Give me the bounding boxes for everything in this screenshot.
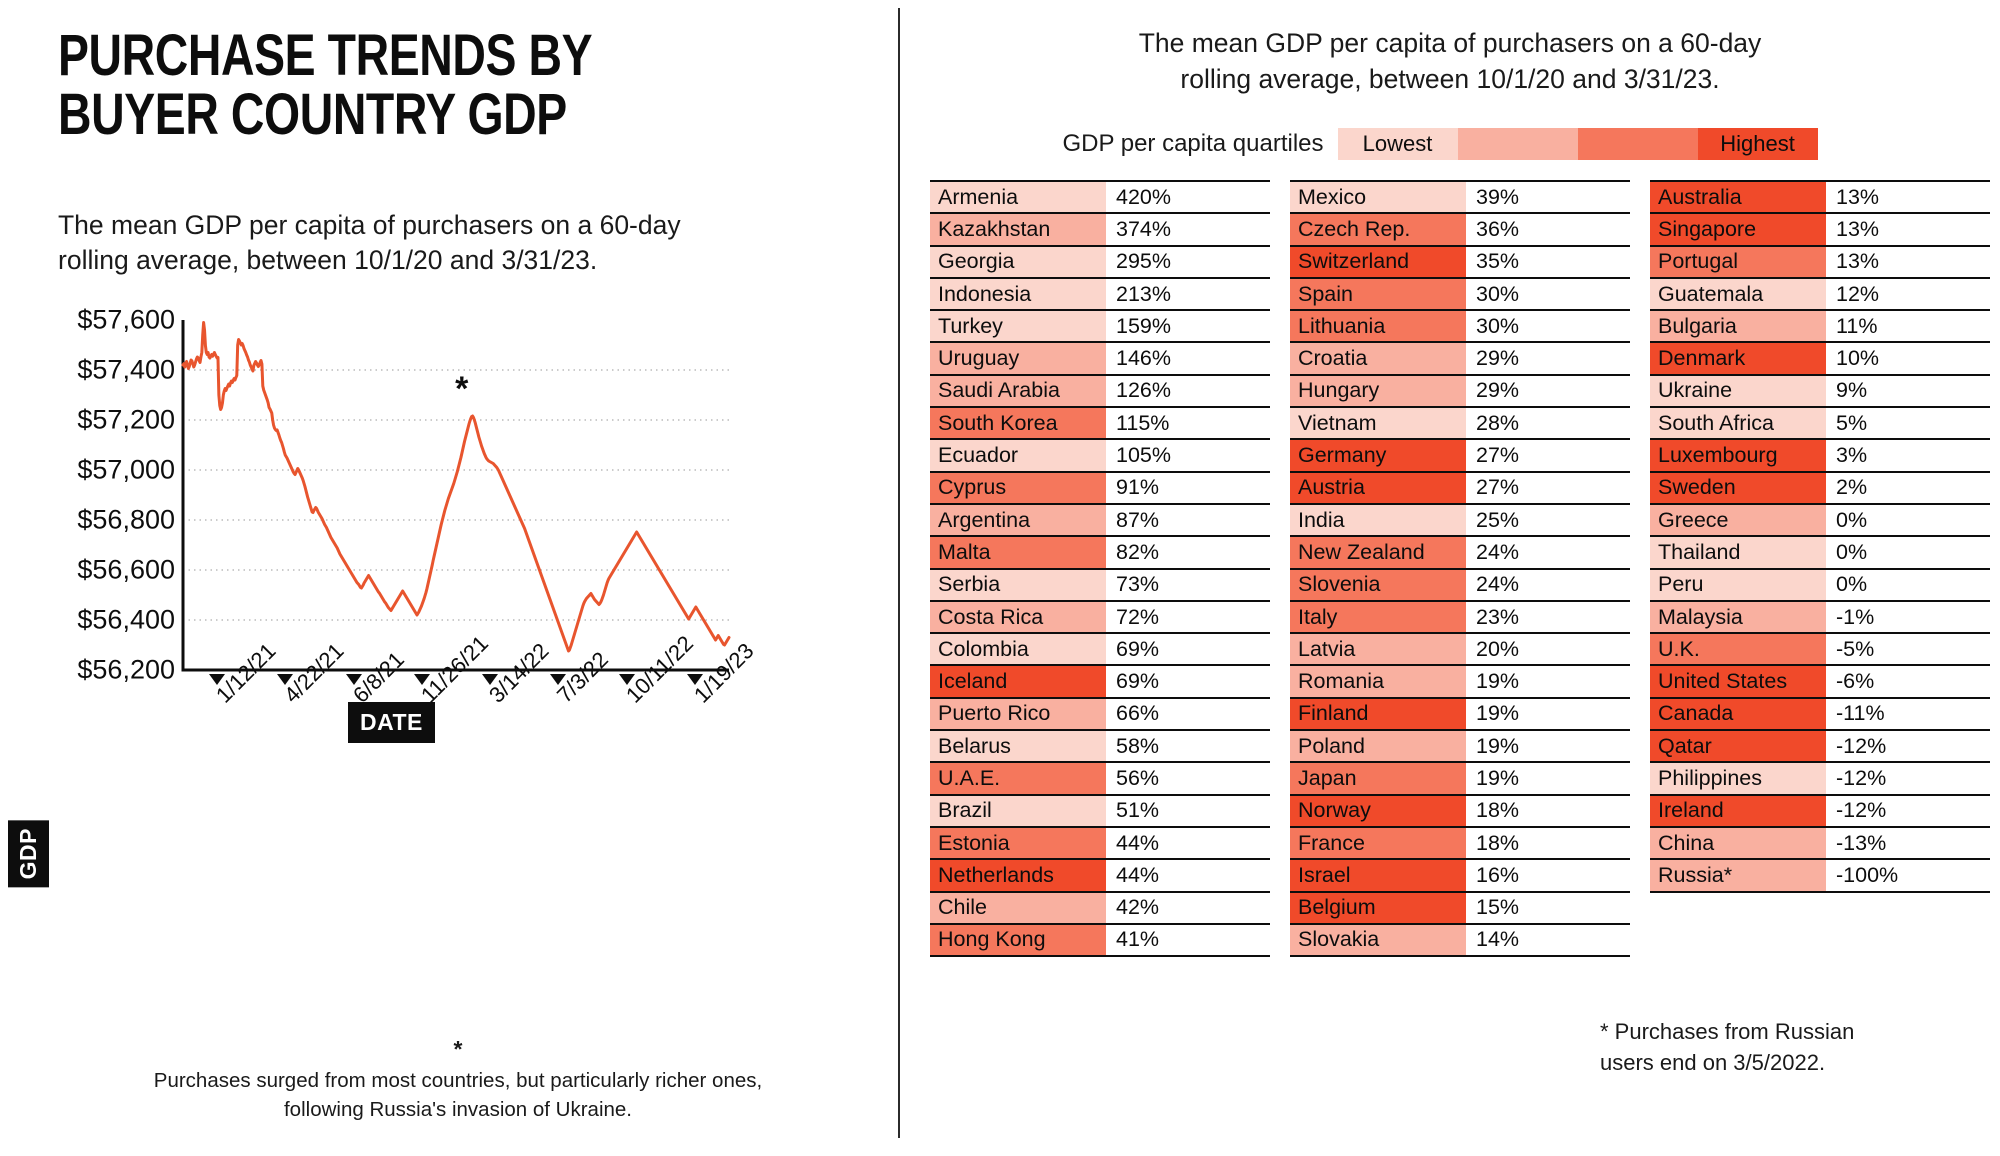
country-name-cell: Russia* <box>1650 860 1826 890</box>
country-value-cell: 24% <box>1466 570 1630 600</box>
table-row[interactable]: U.A.E.56% <box>930 761 1270 793</box>
country-name-cell: Colombia <box>930 634 1106 664</box>
country-value-cell: 16% <box>1466 860 1630 890</box>
country-value-cell: 105% <box>1106 440 1270 470</box>
country-name-cell: Singapore <box>1650 214 1826 244</box>
country-value-cell: 19% <box>1466 763 1630 793</box>
y-tick-label: $57,600 <box>0 305 175 336</box>
country-name-cell: Mexico <box>1290 182 1466 212</box>
country-value-cell: 42% <box>1106 893 1270 923</box>
country-value-cell: 29% <box>1466 343 1630 373</box>
country-value-cell: 28% <box>1466 408 1630 438</box>
table-row[interactable]: Peru0% <box>1650 568 1990 600</box>
page-title: PURCHASE TRENDS BY BUYER COUNTRY GDP <box>58 26 714 144</box>
country-value-cell: 30% <box>1466 311 1630 341</box>
table-row[interactable]: Malaysia-1% <box>1650 600 1990 632</box>
country-name-cell: Argentina <box>930 505 1106 535</box>
country-name-cell: Georgia <box>930 247 1106 277</box>
table-row[interactable]: Slovenia24% <box>1290 568 1630 600</box>
table-row[interactable]: Saudi Arabia126% <box>930 374 1270 406</box>
table-row[interactable]: France18% <box>1290 826 1630 858</box>
y-tick-label: $57,400 <box>0 355 175 386</box>
country-name-cell: Thailand <box>1650 537 1826 567</box>
table-row[interactable]: Canada-11% <box>1650 697 1990 729</box>
country-value-cell: 10% <box>1826 343 1990 373</box>
country-value-cell: 35% <box>1466 247 1630 277</box>
gdp-line-chart: GDP $57,600$57,400$57,200$57,000$56,800$… <box>0 320 896 820</box>
country-name-cell: Norway <box>1290 796 1466 826</box>
country-value-cell: 19% <box>1466 666 1630 696</box>
country-name-cell: Belarus <box>930 731 1106 761</box>
country-value-cell: 420% <box>1106 182 1270 212</box>
chart-plot-area: * <box>183 320 729 670</box>
country-value-cell: 0% <box>1826 537 1990 567</box>
chart-annotation-asterisk: * <box>455 372 468 406</box>
table-row[interactable]: Lithuania30% <box>1290 309 1630 341</box>
country-name-cell: Lithuania <box>1290 311 1466 341</box>
table-row[interactable]: Belarus58% <box>930 729 1270 761</box>
table-row[interactable]: Japan19% <box>1290 761 1630 793</box>
country-value-cell: -11% <box>1826 699 1990 729</box>
table-row[interactable]: India25% <box>1290 503 1630 535</box>
country-value-cell: 44% <box>1106 828 1270 858</box>
country-value-cell: 66% <box>1106 699 1270 729</box>
country-name-cell: Philippines <box>1650 763 1826 793</box>
table-row[interactable]: Israel16% <box>1290 858 1630 890</box>
legend-swatch-lowest: Lowest <box>1338 128 1458 160</box>
table-row[interactable]: Armenia420% <box>930 180 1270 212</box>
table-row[interactable]: Ecuador105% <box>930 438 1270 470</box>
country-name-cell: Guatemala <box>1650 279 1826 309</box>
table-row[interactable]: Austria27% <box>1290 471 1630 503</box>
table-row[interactable]: Australia13% <box>1650 180 1990 212</box>
table-row[interactable]: Vietnam28% <box>1290 406 1630 438</box>
country-name-cell: Canada <box>1650 699 1826 729</box>
country-name-cell: Qatar <box>1650 731 1826 761</box>
table-row[interactable]: Switzerland35% <box>1290 245 1630 277</box>
country-value-cell: 19% <box>1466 731 1630 761</box>
table-row[interactable]: Singapore13% <box>1650 212 1990 244</box>
table-row[interactable]: Bulgaria11% <box>1650 309 1990 341</box>
country-name-cell: Slovakia <box>1290 925 1466 955</box>
table-row[interactable]: Greece0% <box>1650 503 1990 535</box>
table-row[interactable]: Argentina87% <box>930 503 1270 535</box>
y-axis-label: GDP <box>8 820 49 887</box>
y-tick-label: $56,400 <box>0 605 175 636</box>
country-value-cell: 115% <box>1106 408 1270 438</box>
table-row[interactable]: Slovakia14% <box>1290 923 1630 957</box>
country-name-cell: Switzerland <box>1290 247 1466 277</box>
country-value-cell: 13% <box>1826 182 1990 212</box>
table-row[interactable]: Estonia44% <box>930 826 1270 858</box>
country-name-cell: U.A.E. <box>930 763 1106 793</box>
country-value-cell: 213% <box>1106 279 1270 309</box>
country-name-cell: Saudi Arabia <box>930 376 1106 406</box>
y-axis-ticks: $57,600$57,400$57,200$57,000$56,800$56,6… <box>0 320 175 670</box>
table-row[interactable]: Indonesia213% <box>930 277 1270 309</box>
table-row[interactable]: Ukraine9% <box>1650 374 1990 406</box>
legend-swatch-third <box>1578 128 1698 160</box>
country-value-cell: -12% <box>1826 731 1990 761</box>
country-value-cell: 51% <box>1106 796 1270 826</box>
country-name-cell: Belgium <box>1290 893 1466 923</box>
table-row[interactable]: Cyprus91% <box>930 471 1270 503</box>
country-value-cell: 30% <box>1466 279 1630 309</box>
country-value-cell: 374% <box>1106 214 1270 244</box>
country-name-cell: Netherlands <box>930 860 1106 890</box>
legend-swatch-highest: Highest <box>1698 128 1818 160</box>
country-value-cell: 73% <box>1106 570 1270 600</box>
table-row[interactable]: Luxembourg3% <box>1650 438 1990 470</box>
country-value-cell: 18% <box>1466 828 1630 858</box>
table-row[interactable]: South Africa5% <box>1650 406 1990 438</box>
table-row[interactable]: Portugal13% <box>1650 245 1990 277</box>
infographic-page: PURCHASE TRENDS BY BUYER COUNTRY GDP The… <box>0 0 2000 1156</box>
country-name-cell: Ukraine <box>1650 376 1826 406</box>
country-name-cell: India <box>1290 505 1466 535</box>
table-row[interactable]: Belgium15% <box>1290 891 1630 923</box>
country-value-cell: 69% <box>1106 634 1270 664</box>
country-name-cell: Iceland <box>930 666 1106 696</box>
country-value-cell: 13% <box>1826 214 1990 244</box>
x-axis-label: DATE <box>348 702 435 743</box>
country-value-cell: -1% <box>1826 602 1990 632</box>
country-name-cell: Finland <box>1290 699 1466 729</box>
table-row[interactable]: Uruguay146% <box>930 341 1270 373</box>
country-name-cell: Japan <box>1290 763 1466 793</box>
country-name-cell: Indonesia <box>930 279 1106 309</box>
page-subtitle: The mean GDP per capita of purchasers on… <box>58 208 818 278</box>
country-name-cell: U.K. <box>1650 634 1826 664</box>
country-name-cell: Romania <box>1290 666 1466 696</box>
country-name-cell: Turkey <box>930 311 1106 341</box>
country-value-cell: 58% <box>1106 731 1270 761</box>
country-name-cell: Czech Rep. <box>1290 214 1466 244</box>
country-value-cell: -12% <box>1826 763 1990 793</box>
country-name-cell: Estonia <box>930 828 1106 858</box>
table-row[interactable]: Costa Rica72% <box>930 600 1270 632</box>
country-name-cell: Peru <box>1650 570 1826 600</box>
country-value-cell: 9% <box>1826 376 1990 406</box>
country-value-cell: 87% <box>1106 505 1270 535</box>
table-row[interactable]: Norway18% <box>1290 794 1630 826</box>
country-name-cell: Luxembourg <box>1650 440 1826 470</box>
country-value-cell: 69% <box>1106 666 1270 696</box>
country-name-cell: Hungary <box>1290 376 1466 406</box>
table-row[interactable]: Spain30% <box>1290 277 1630 309</box>
country-name-cell: South Africa <box>1650 408 1826 438</box>
table-column-3: Australia13%Singapore13%Portugal13%Guate… <box>1650 180 1990 957</box>
country-name-cell: Latvia <box>1290 634 1466 664</box>
table-column-2: Mexico39%Czech Rep.36%Switzerland35%Spai… <box>1290 180 1630 957</box>
table-row[interactable]: Iceland69% <box>930 664 1270 696</box>
table-row[interactable]: Romania19% <box>1290 664 1630 696</box>
country-name-cell: Bulgaria <box>1650 311 1826 341</box>
country-name-cell: Sweden <box>1650 473 1826 503</box>
table-row[interactable]: U.K.-5% <box>1650 632 1990 664</box>
country-name-cell: Australia <box>1650 182 1826 212</box>
country-value-cell: -5% <box>1826 634 1990 664</box>
country-value-cell: 20% <box>1466 634 1630 664</box>
country-name-cell: Ireland <box>1650 796 1826 826</box>
table-row[interactable]: Sweden2% <box>1650 471 1990 503</box>
country-value-cell: 44% <box>1106 860 1270 890</box>
country-name-cell: Spain <box>1290 279 1466 309</box>
country-name-cell: Puerto Rico <box>930 699 1106 729</box>
country-value-cell: -12% <box>1826 796 1990 826</box>
y-tick-label: $57,200 <box>0 405 175 436</box>
country-value-cell: 29% <box>1466 376 1630 406</box>
table-row[interactable]: Hungary29% <box>1290 374 1630 406</box>
table-row[interactable]: New Zealand24% <box>1290 535 1630 567</box>
country-name-cell: Chile <box>930 893 1106 923</box>
country-value-cell: 91% <box>1106 473 1270 503</box>
country-name-cell: Uruguay <box>930 343 1106 373</box>
legend-swatch-second <box>1458 128 1578 160</box>
y-tick-label: $56,200 <box>0 655 175 686</box>
country-value-cell: 23% <box>1466 602 1630 632</box>
country-value-cell: 15% <box>1466 893 1630 923</box>
country-name-cell: Italy <box>1290 602 1466 632</box>
country-value-cell: 41% <box>1106 925 1270 955</box>
table-row[interactable]: Latvia20% <box>1290 632 1630 664</box>
table-row[interactable]: Germany27% <box>1290 438 1630 470</box>
table-row[interactable]: United States-6% <box>1650 664 1990 696</box>
table-row[interactable]: Poland19% <box>1290 729 1630 761</box>
country-name-cell: Serbia <box>930 570 1106 600</box>
country-value-cell: 25% <box>1466 505 1630 535</box>
chart-footnote: * Purchases surged from most countries, … <box>58 1004 858 1124</box>
country-name-cell: Israel <box>1290 860 1466 890</box>
table-row[interactable]: Ireland-12% <box>1650 794 1990 826</box>
country-name-cell: Malaysia <box>1650 602 1826 632</box>
country-name-cell: Austria <box>1290 473 1466 503</box>
country-name-cell: China <box>1650 828 1826 858</box>
country-name-cell: Brazil <box>930 796 1106 826</box>
right-panel: The mean GDP per capita of purchasers on… <box>900 0 2000 1156</box>
table-row[interactable]: Serbia73% <box>930 568 1270 600</box>
country-value-cell: 39% <box>1466 182 1630 212</box>
country-name-cell: Ecuador <box>930 440 1106 470</box>
table-row[interactable]: Philippines-12% <box>1650 761 1990 793</box>
country-name-cell: Slovenia <box>1290 570 1466 600</box>
table-footnote: * Purchases from Russian users end on 3/… <box>1600 1016 1930 1078</box>
table-row[interactable]: Russia*-100% <box>1650 858 1990 892</box>
country-name-cell: United States <box>1650 666 1826 696</box>
country-value-cell: 5% <box>1826 408 1990 438</box>
table-row[interactable]: Kazakhstan374% <box>930 212 1270 244</box>
table-row[interactable]: Qatar-12% <box>1650 729 1990 761</box>
country-name-cell: Malta <box>930 537 1106 567</box>
table-row[interactable]: Czech Rep.36% <box>1290 212 1630 244</box>
country-value-cell: 27% <box>1466 440 1630 470</box>
country-value-cell: 82% <box>1106 537 1270 567</box>
table-row[interactable]: Hong Kong41% <box>930 923 1270 957</box>
country-value-cell: 295% <box>1106 247 1270 277</box>
country-value-cell: 56% <box>1106 763 1270 793</box>
table-row[interactable]: Denmark10% <box>1650 341 1990 373</box>
table-row[interactable]: Puerto Rico66% <box>930 697 1270 729</box>
table-row[interactable]: Mexico39% <box>1290 180 1630 212</box>
country-name-cell: New Zealand <box>1290 537 1466 567</box>
table-row[interactable]: South Korea115% <box>930 406 1270 438</box>
table-row[interactable]: Finland19% <box>1290 697 1630 729</box>
country-value-cell: 18% <box>1466 796 1630 826</box>
table-row[interactable]: Georgia295% <box>930 245 1270 277</box>
country-value-cell: 126% <box>1106 376 1270 406</box>
country-name-cell: Armenia <box>930 182 1106 212</box>
y-tick-label: $57,000 <box>0 455 175 486</box>
country-value-cell: 2% <box>1826 473 1990 503</box>
table-row[interactable]: Italy23% <box>1290 600 1630 632</box>
country-value-cell: 12% <box>1826 279 1990 309</box>
country-name-cell: Vietnam <box>1290 408 1466 438</box>
country-value-cell: 14% <box>1466 925 1630 955</box>
country-name-cell: Denmark <box>1650 343 1826 373</box>
country-value-cell: -13% <box>1826 828 1990 858</box>
table-row[interactable]: Netherlands44% <box>930 858 1270 890</box>
country-value-cell: 146% <box>1106 343 1270 373</box>
country-name-cell: Portugal <box>1650 247 1826 277</box>
quartile-legend: GDP per capita quartiles Lowest Highest <box>900 128 1980 160</box>
country-value-cell: -100% <box>1826 860 1990 890</box>
table-row[interactable]: Colombia69% <box>930 632 1270 664</box>
table-row[interactable]: Chile42% <box>930 891 1270 923</box>
y-tick-label: $56,600 <box>0 555 175 586</box>
table-row[interactable]: China-13% <box>1650 826 1990 858</box>
table-row[interactable]: Turkey159% <box>930 309 1270 341</box>
country-name-cell: Greece <box>1650 505 1826 535</box>
country-name-cell: Poland <box>1290 731 1466 761</box>
table-row[interactable]: Guatemala12% <box>1650 277 1990 309</box>
country-value-cell: 19% <box>1466 699 1630 729</box>
legend-label: GDP per capita quartiles <box>1062 130 1323 158</box>
country-name-cell: South Korea <box>930 408 1106 438</box>
country-value-cell: -6% <box>1826 666 1990 696</box>
table-subtitle: The mean GDP per capita of purchasers on… <box>940 26 1960 98</box>
table-column-1: Armenia420%Kazakhstan374%Georgia295%Indo… <box>930 180 1270 957</box>
table-row[interactable]: Croatia29% <box>1290 341 1630 373</box>
left-panel: PURCHASE TRENDS BY BUYER COUNTRY GDP The… <box>0 0 896 1156</box>
footnote-text: Purchases surged from most countries, bu… <box>154 1069 762 1121</box>
country-name-cell: Costa Rica <box>930 602 1106 632</box>
table-row[interactable]: Thailand0% <box>1650 535 1990 567</box>
table-row[interactable]: Malta82% <box>930 535 1270 567</box>
country-value-cell: 0% <box>1826 505 1990 535</box>
country-name-cell: France <box>1290 828 1466 858</box>
country-value-cell: 159% <box>1106 311 1270 341</box>
country-value-cell: 3% <box>1826 440 1990 470</box>
country-name-cell: Kazakhstan <box>930 214 1106 244</box>
country-value-cell: 72% <box>1106 602 1270 632</box>
country-name-cell: Hong Kong <box>930 925 1106 955</box>
country-name-cell: Cyprus <box>930 473 1106 503</box>
country-value-cell: 24% <box>1466 537 1630 567</box>
country-value-cell: 0% <box>1826 570 1990 600</box>
country-value-cell: 11% <box>1826 311 1990 341</box>
country-value-cell: 36% <box>1466 214 1630 244</box>
y-tick-label: $56,800 <box>0 505 175 536</box>
country-value-cell: 13% <box>1826 247 1990 277</box>
country-table: Armenia420%Kazakhstan374%Georgia295%Indo… <box>930 180 1990 957</box>
country-name-cell: Croatia <box>1290 343 1466 373</box>
country-name-cell: Germany <box>1290 440 1466 470</box>
footnote-asterisk: * <box>454 1036 463 1062</box>
country-value-cell: 27% <box>1466 473 1630 503</box>
table-row[interactable]: Brazil51% <box>930 794 1270 826</box>
